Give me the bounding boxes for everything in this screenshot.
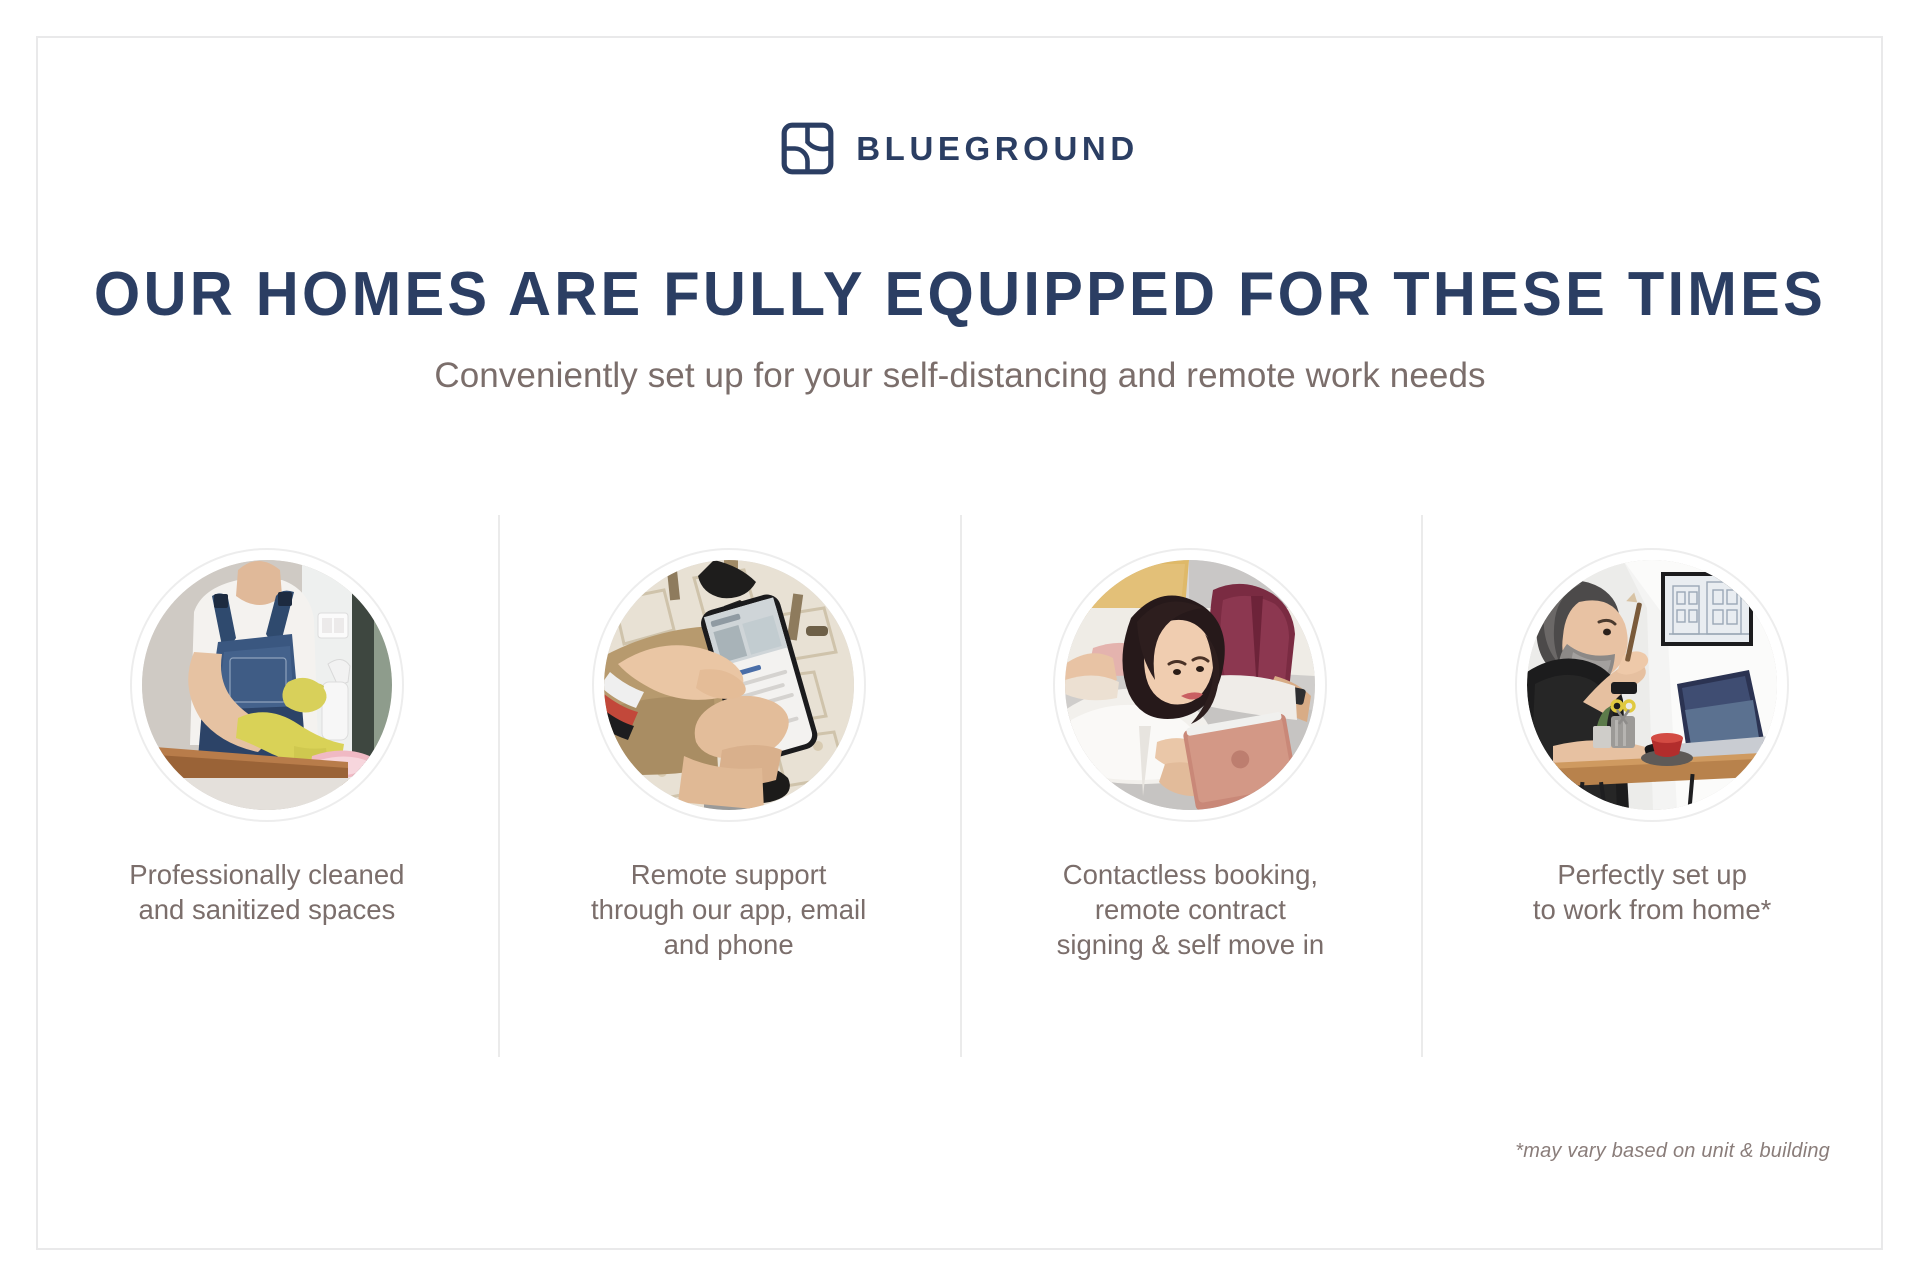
feature-caption: Perfectly set up to work from home* — [1487, 858, 1817, 928]
man-working-at-desk-photo — [1527, 560, 1777, 810]
feature-caption: Remote support through our app, email an… — [564, 858, 894, 963]
feature-caption: Professionally cleaned and sanitized spa… — [102, 858, 432, 928]
page-subtitle: Conveniently set up for your self-distan… — [0, 356, 1920, 396]
page-title: OUR HOMES ARE FULLY EQUIPPED FOR THESE T… — [38, 262, 1881, 327]
feature-column: Professionally cleaned and sanitized spa… — [36, 515, 498, 1057]
cleaner-wiping-counter-photo — [142, 560, 392, 810]
infographic-page: BLUEGROUND OUR HOMES ARE FULLY EQUIPPED … — [0, 0, 1920, 1280]
photo-ring — [1053, 548, 1327, 822]
hands-using-phone-app-photo — [604, 560, 854, 810]
brand-lockup: BLUEGROUND — [0, 122, 1920, 175]
feature-column: Contactless booking, remote contract sig… — [960, 515, 1422, 1057]
woman-with-tablet-on-bed-photo — [1065, 560, 1315, 810]
photo-ring — [130, 548, 404, 822]
blueground-square-mark-icon — [781, 122, 834, 175]
feature-column: Remote support through our app, email an… — [498, 515, 960, 1057]
feature-column: Perfectly set up to work from home* — [1421, 515, 1883, 1057]
brand-name: BLUEGROUND — [856, 132, 1139, 165]
footnote-disclaimer: *may vary based on unit & building — [1515, 1140, 1830, 1163]
feature-caption: Contactless booking, remote contract sig… — [1025, 858, 1355, 963]
feature-columns: Professionally cleaned and sanitized spa… — [36, 515, 1883, 1057]
photo-ring — [1515, 548, 1789, 822]
photo-ring — [592, 548, 866, 822]
